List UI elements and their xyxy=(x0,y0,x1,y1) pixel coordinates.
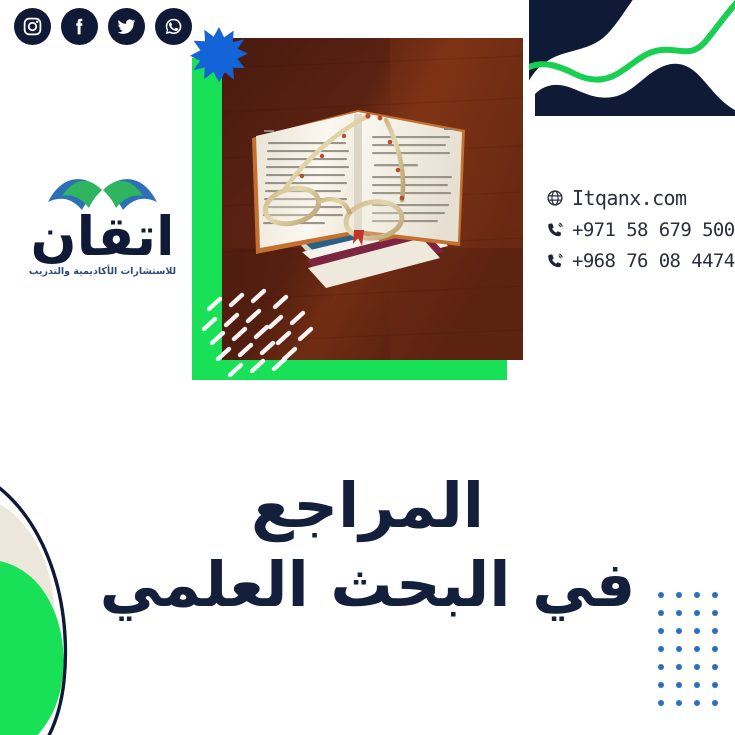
grid-dot xyxy=(676,700,682,706)
diagonal-dashes-pattern xyxy=(196,285,321,380)
grid-dot xyxy=(694,682,700,688)
brand-logo[interactable]: اتقان للاستشارات الأكاديمية والتدريب xyxy=(10,168,195,277)
whatsapp-icon xyxy=(163,16,184,37)
grid-dot xyxy=(694,646,700,652)
grid-dot xyxy=(658,664,664,670)
grid-dot xyxy=(694,700,700,706)
logo-wordmark: اتقان xyxy=(10,210,195,264)
grid-dot xyxy=(676,664,682,670)
grid-dot xyxy=(694,628,700,634)
top-right-blob-decoration xyxy=(529,0,735,116)
grid-dot xyxy=(712,592,718,598)
social-link-twitter[interactable] xyxy=(108,8,145,45)
grid-dot xyxy=(712,610,718,616)
grid-dot xyxy=(712,628,718,634)
headline-line-1: المراجع xyxy=(0,470,735,541)
grid-dot xyxy=(712,700,718,706)
contact-phone-2[interactable]: +968 76 08 4474 xyxy=(546,250,731,272)
grid-dot xyxy=(658,682,664,688)
grid-dot xyxy=(658,610,664,616)
logo-subtitle: للاستشارات الأكاديمية والتدريب xyxy=(10,266,195,277)
grid-dot xyxy=(658,592,664,598)
contact-website[interactable]: Itqanx.com xyxy=(546,186,731,210)
globe-icon xyxy=(546,189,564,207)
grid-dot xyxy=(658,646,664,652)
grid-dot xyxy=(676,646,682,652)
poster-headline: المراجع في البحث العلمي xyxy=(0,470,735,621)
grid-dot xyxy=(694,592,700,598)
contact-phone-1-value: +971 58 679 5009 xyxy=(572,219,735,241)
grid-dot xyxy=(676,682,682,688)
grid-dot xyxy=(658,700,664,706)
instagram-icon xyxy=(22,16,43,37)
headline-line-2: في البحث العلمي xyxy=(0,549,735,620)
contact-phone-1[interactable]: +971 58 679 5009 xyxy=(546,219,731,241)
contact-info-block: Itqanx.com +971 58 679 5009 +968 76 xyxy=(546,186,731,272)
phone-icon xyxy=(546,221,564,239)
social-link-whatsapp[interactable] xyxy=(155,8,192,45)
social-link-facebook[interactable] xyxy=(61,8,98,45)
grid-dot xyxy=(676,628,682,634)
social-link-instagram[interactable] xyxy=(14,8,51,45)
blue-dot-grid-decoration xyxy=(658,592,730,718)
phone-icon xyxy=(546,252,564,270)
grid-dot xyxy=(676,592,682,598)
grid-dot xyxy=(712,682,718,688)
grid-dot xyxy=(676,610,682,616)
poster-canvas: اتقان للاستشارات الأكاديمية والتدريب xyxy=(0,0,735,735)
grid-dot xyxy=(694,610,700,616)
grid-dot xyxy=(694,664,700,670)
contact-phone-2-value: +968 76 08 4474 xyxy=(572,250,735,272)
blue-starburst-icon xyxy=(190,26,248,84)
twitter-icon xyxy=(116,16,137,37)
grid-dot xyxy=(658,628,664,634)
contact-website-value: Itqanx.com xyxy=(572,186,686,210)
grid-dot xyxy=(712,646,718,652)
facebook-icon xyxy=(69,16,90,37)
grid-dot xyxy=(712,664,718,670)
social-icons-row xyxy=(14,8,192,45)
